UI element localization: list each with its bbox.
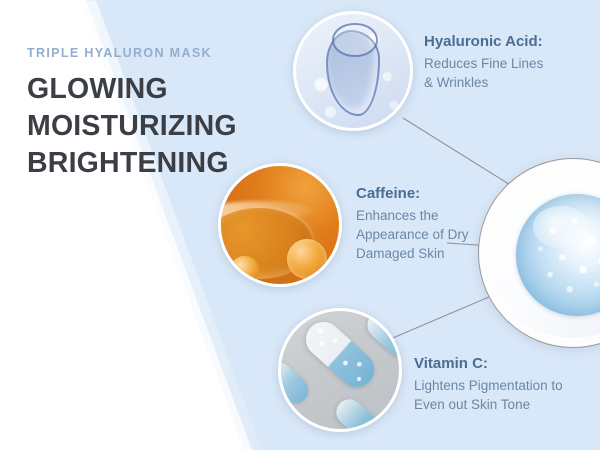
- capsule-bottom-right: [331, 394, 387, 432]
- headline-line-3: BRIGHTENING: [27, 145, 277, 182]
- eyebrow-text: TRIPLE HYALURON MASK: [27, 46, 277, 60]
- callout-caffeine: Caffeine: Enhances the Appearance of Dry…: [356, 185, 469, 263]
- headline-block: TRIPLE HYALURON MASK GLOWING MOISTURIZIN…: [27, 46, 277, 181]
- product-jar: [478, 158, 600, 348]
- callout-desc-hyaluronic: Reduces Fine Lines & Wrinkles: [424, 54, 543, 92]
- ingredient-image-vitaminc: [278, 308, 402, 432]
- callout-desc-line: Enhances the: [356, 206, 469, 225]
- ingredient-image-hyaluronic: [293, 11, 413, 131]
- callout-desc-caffeine: Enhances the Appearance of Dry Damaged S…: [356, 206, 469, 263]
- headline-line-2: MOISTURIZING: [27, 108, 277, 145]
- callout-desc-line: Damaged Skin: [356, 244, 469, 263]
- oil-droplet-small: [230, 256, 258, 284]
- ingredient-image-caffeine: [218, 163, 342, 287]
- callout-title-vitaminc: Vitamin C:: [414, 355, 563, 374]
- callout-vitaminc: Vitamin C: Lightens Pigmentation to Even…: [414, 355, 563, 414]
- callout-desc-line: Appearance of Dry: [356, 225, 469, 244]
- callout-hyaluronic: Hyaluronic Acid: Reduces Fine Lines & Wr…: [424, 33, 543, 92]
- product-infographic: TRIPLE HYALURON MASK GLOWING MOISTURIZIN…: [0, 0, 600, 450]
- serum-ring-shape: [332, 23, 377, 57]
- callout-title-hyaluronic: Hyaluronic Acid:: [424, 33, 543, 52]
- callout-desc-line: Reduces Fine Lines: [424, 54, 543, 73]
- headline-line-1: GLOWING: [27, 71, 277, 108]
- callout-desc-vitaminc: Lightens Pigmentation to Even out Skin T…: [414, 376, 563, 414]
- page-title: GLOWING MOISTURIZING BRIGHTENING: [27, 71, 277, 181]
- callout-title-caffeine: Caffeine:: [356, 185, 469, 204]
- callout-desc-line: Even out Skin Tone: [414, 395, 563, 414]
- callout-desc-line: Lightens Pigmentation to: [414, 376, 563, 395]
- callout-desc-line: & Wrinkles: [424, 73, 543, 92]
